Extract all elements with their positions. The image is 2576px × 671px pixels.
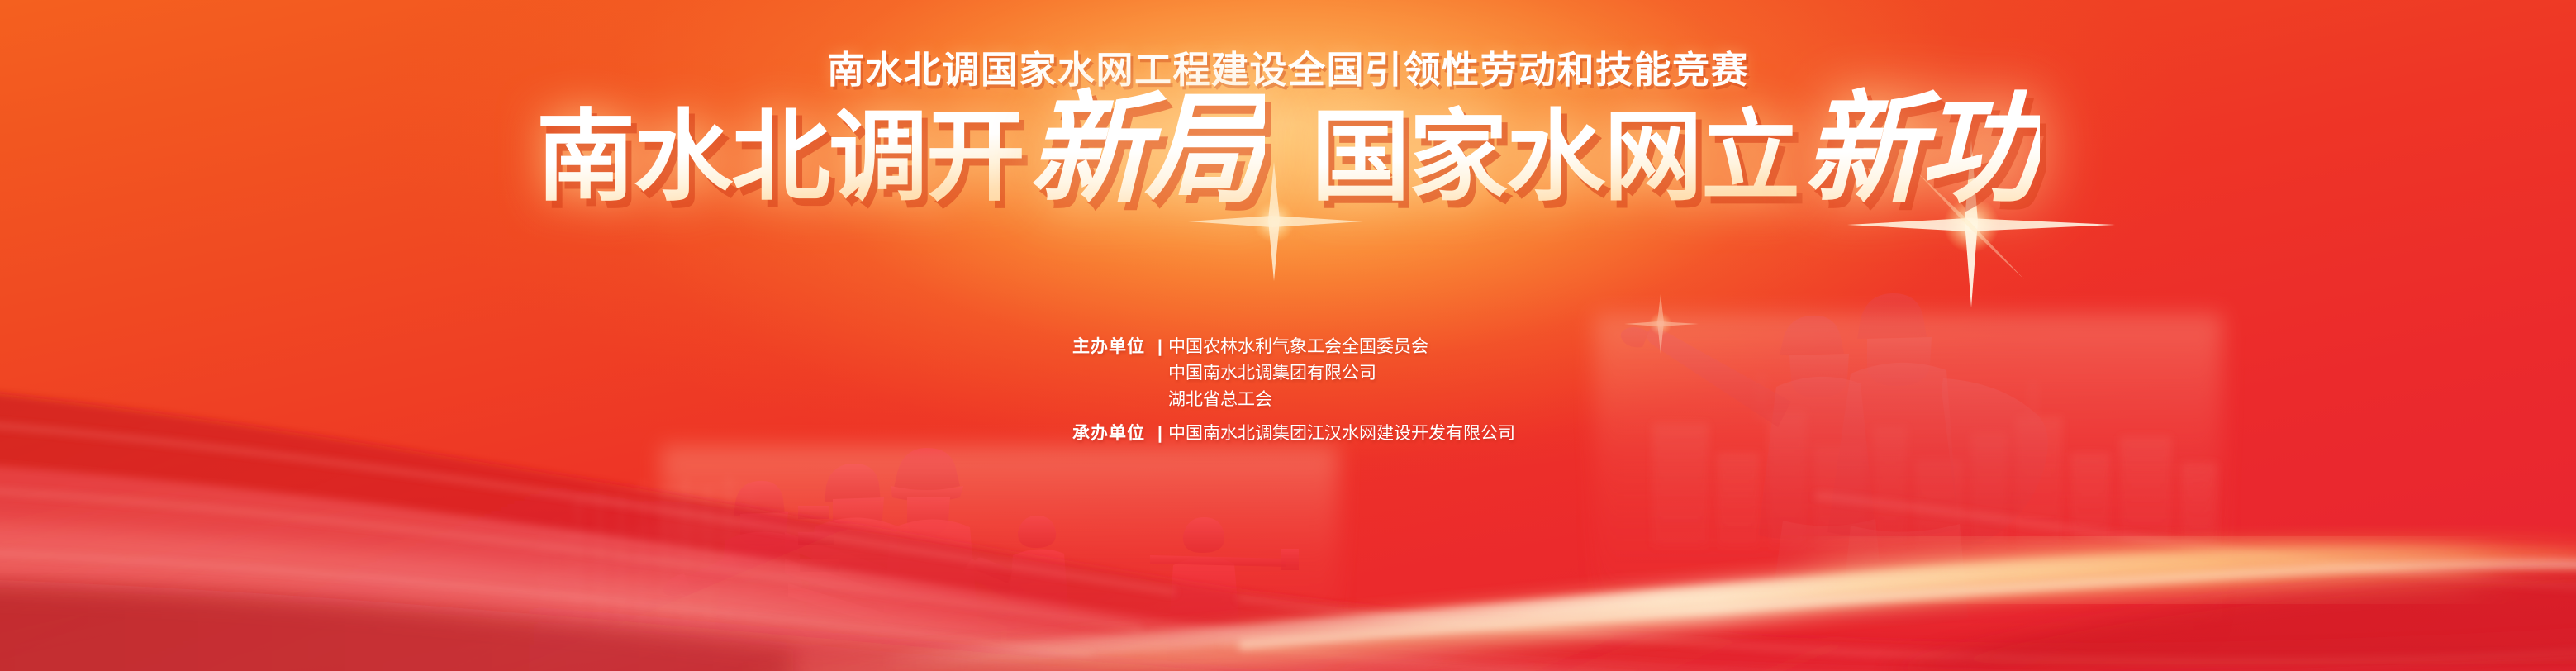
host-separator: | xyxy=(1152,421,1168,447)
host-row: 承办单位 | 中国南水北调集团江汉水网建设开发有限公司 xyxy=(1072,421,1515,447)
organizer-value-2: 湖北省总工会 xyxy=(1168,387,1428,413)
organizer-separator: | xyxy=(1152,334,1168,360)
host-label: 承办单位 xyxy=(1072,421,1152,447)
event-subtitle: 南水北调国家水网工程建设全国引领性劳动和技能竞赛 xyxy=(0,40,2576,93)
headline-segment2-block: 国家水网立 xyxy=(1311,102,1799,212)
host-values: 中国南水北调集团江汉水网建设开发有限公司 xyxy=(1168,421,1515,447)
organizer-row: 主办单位 | 中国农林水利气象工会全国委员会 中国南水北调集团有限公司 湖北省总… xyxy=(1072,334,1515,413)
organizer-value-1: 中国南水北调集团有限公司 xyxy=(1168,360,1428,387)
headline-segment1-block: 南水北调开 xyxy=(536,102,1024,212)
organizer-label: 主办单位 xyxy=(1072,334,1152,360)
organizer-values: 中国农林水利气象工会全国委员会 中国南水北调集团有限公司 湖北省总工会 xyxy=(1168,334,1428,413)
credits-spacer xyxy=(1072,413,1515,421)
headline-segment2-brush: 新功 xyxy=(1799,79,2040,220)
credits-block: 主办单位 | 中国农林水利气象工会全国委员会 中国南水北调集团有限公司 湖北省总… xyxy=(1072,334,1515,447)
event-banner: 南水北调国家水网工程建设全国引领性劳动和技能竞赛 南水北调开新局国家水网立新功 … xyxy=(0,0,2576,671)
organizer-value-0: 中国农林水利气象工会全国委员会 xyxy=(1168,334,1428,360)
event-headline: 南水北调开新局国家水网立新功 xyxy=(0,89,2576,210)
host-value-0: 中国南水北调集团江汉水网建设开发有限公司 xyxy=(1168,421,1515,447)
headline-segment1-brush: 新局 xyxy=(1024,79,1265,220)
